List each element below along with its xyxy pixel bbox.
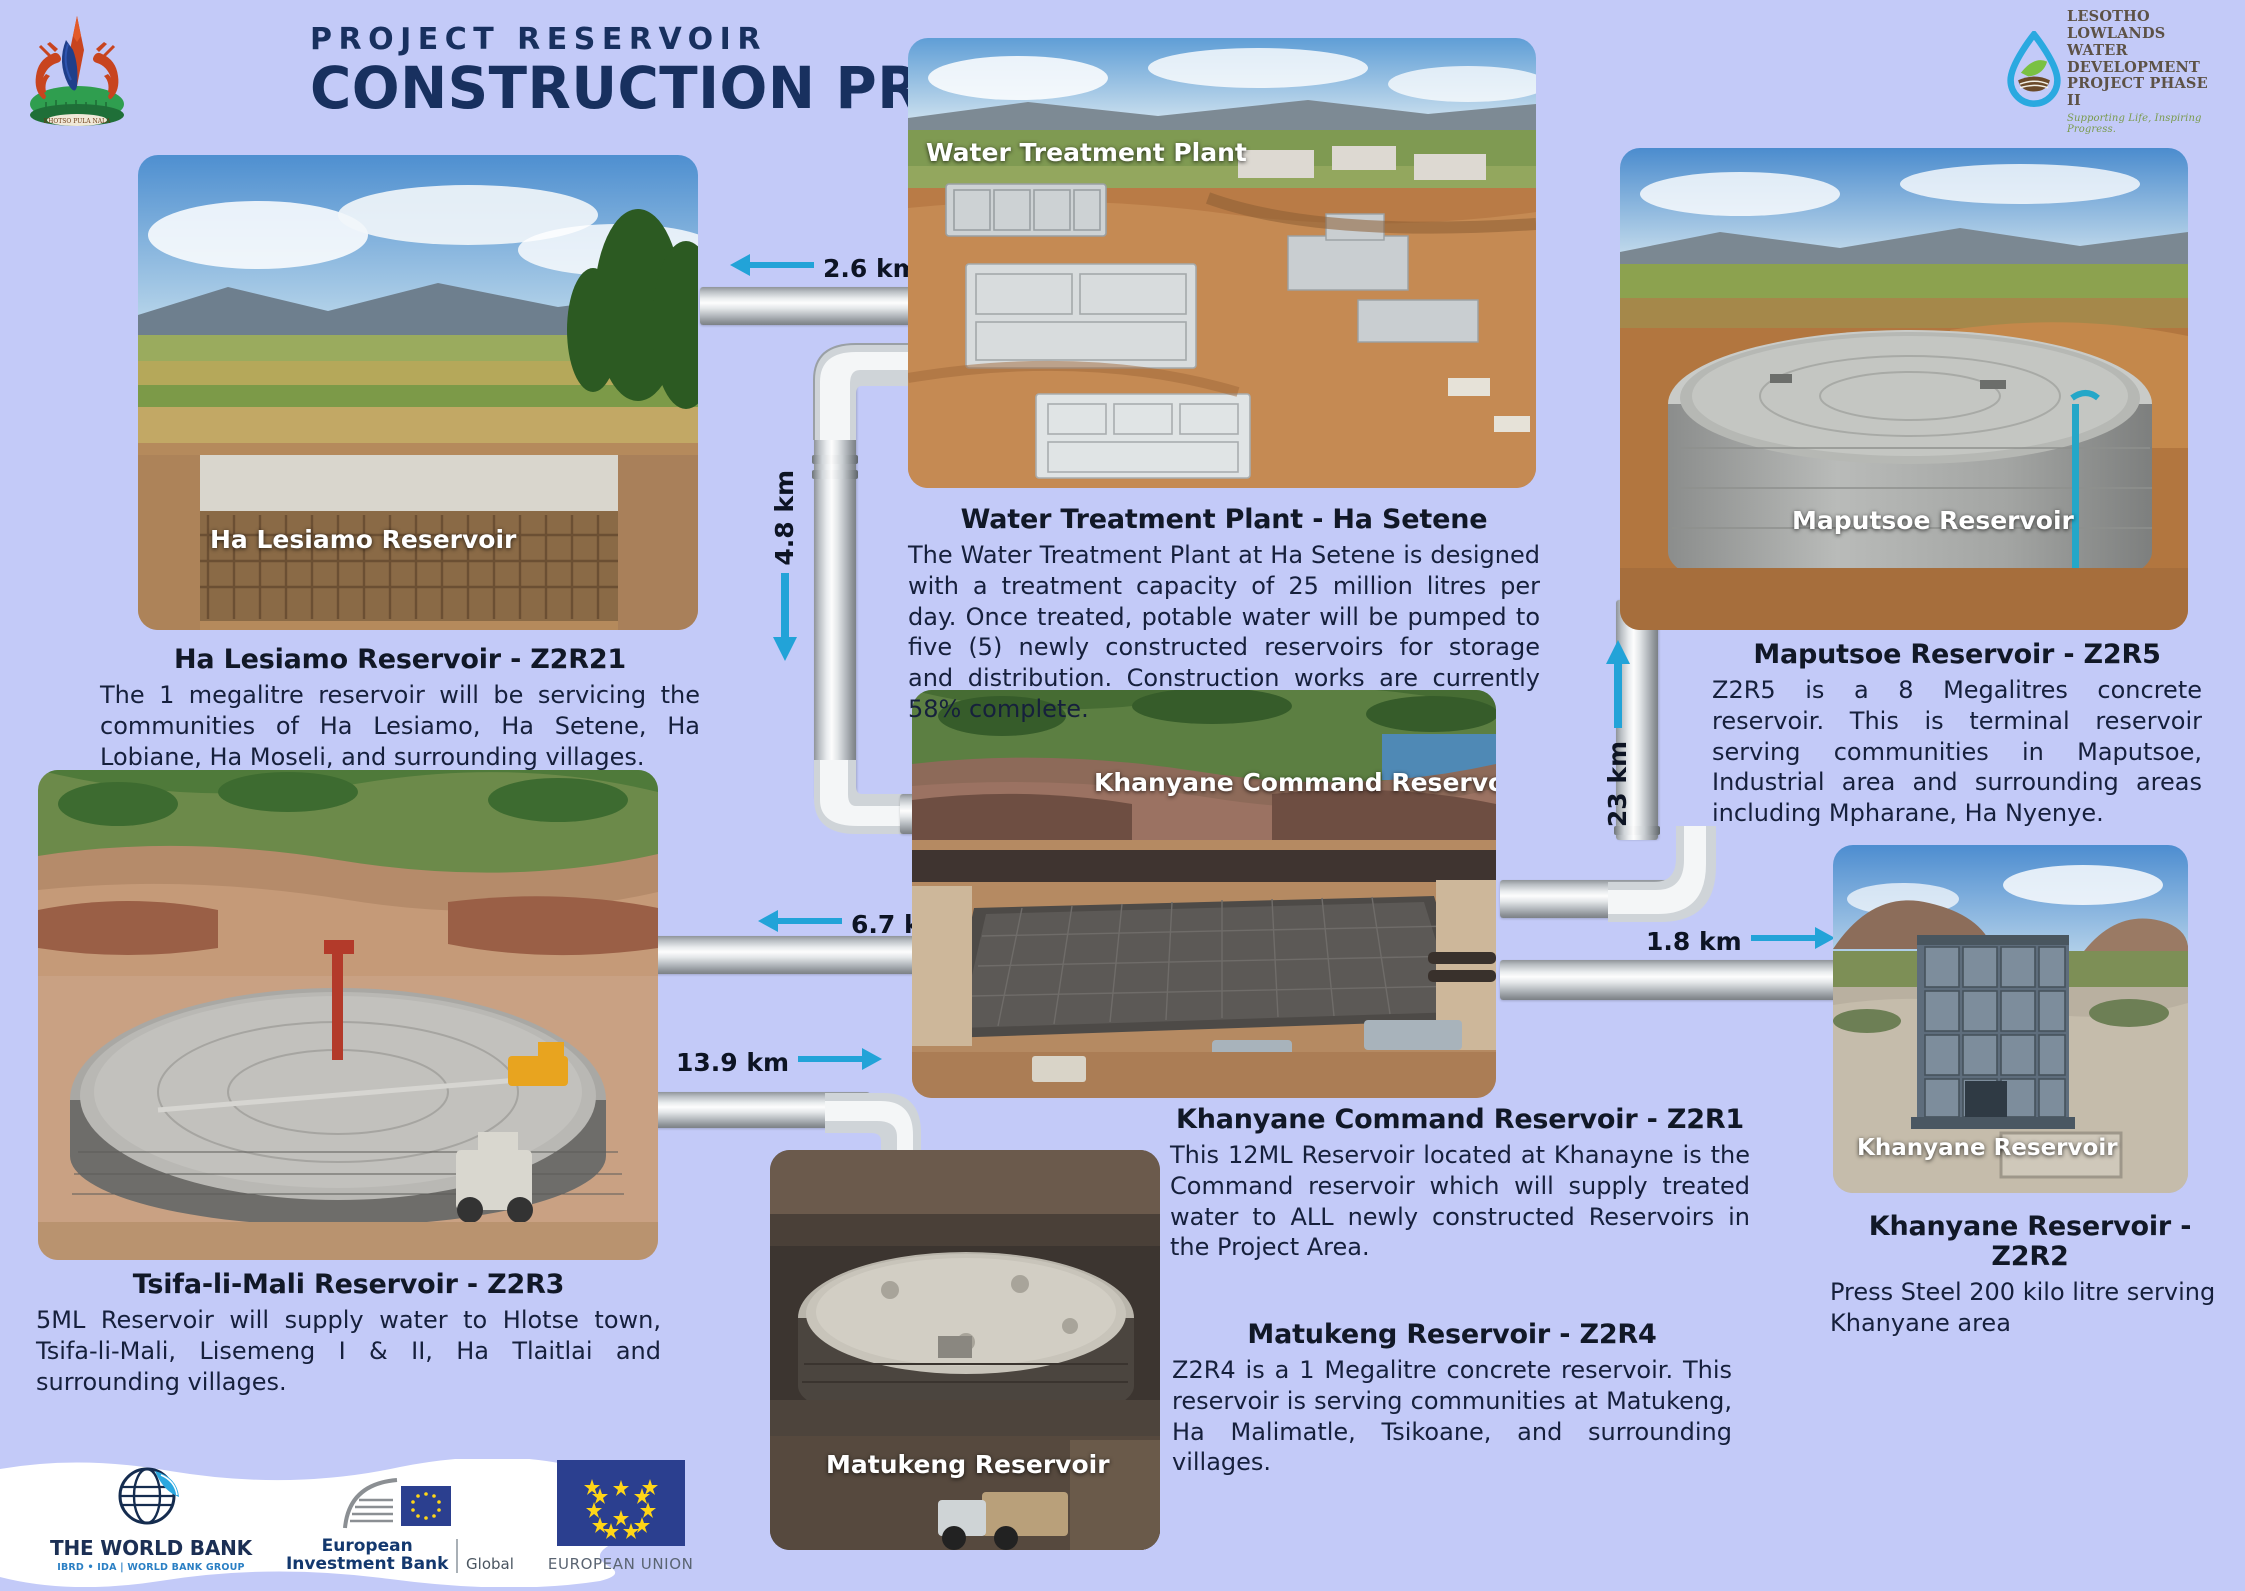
photo-khanyane-command: Khanyane Command Reservoir bbox=[912, 690, 1496, 1098]
eib-logo-icon bbox=[341, 1472, 459, 1538]
distance-command-to-khanyane: 1.8 km bbox=[1646, 925, 1837, 957]
caption-khanyane-command: Khanyane Command Reservoir - Z2R1 This 1… bbox=[1170, 1105, 1750, 1263]
photo-overlay-label: Water Treatment Plant bbox=[926, 138, 1247, 167]
distance-label: 13.9 km bbox=[676, 1048, 789, 1077]
pipe-command-to-khanyane bbox=[1500, 960, 1840, 1000]
caption-title: Matukeng Reservoir - Z2R4 bbox=[1172, 1320, 1732, 1350]
lesotho-coat-of-arms-icon: KHOTSO PULA NALA bbox=[22, 10, 132, 130]
water-drop-leaf-field-icon bbox=[2005, 31, 2063, 113]
caption-title: Ha Lesiamo Reservoir - Z2R21 bbox=[100, 645, 700, 675]
caption-maputsoe: Maputsoe Reservoir - Z2R5 Z2R5 is a 8 Me… bbox=[1712, 640, 2202, 829]
brand-line-4: DEVELOPMENT bbox=[2067, 60, 2227, 77]
infographic-canvas: KHOTSO PULA NALA PROJECT RESERVOIR CONST… bbox=[0, 0, 2245, 1587]
caption-tsifa: Tsifa-li-Mali Reservoir - Z2R3 5ML Reser… bbox=[36, 1270, 661, 1397]
distance-label: 1.8 km bbox=[1646, 927, 1742, 956]
photo-khanyane: Khanyane Reservoir bbox=[1833, 845, 2188, 1193]
eib-logo: European Investment Bank Global bbox=[286, 1472, 514, 1573]
caption-body: The 1 megalitre reservoir will be servic… bbox=[100, 680, 700, 772]
eib-global-label: Global bbox=[466, 1555, 514, 1573]
photo-overlay-label: Khanyane Command Reservoir bbox=[1094, 768, 1496, 797]
pipe-collar-1 bbox=[812, 455, 858, 464]
distance-label: 2.6 km bbox=[823, 254, 919, 283]
world-bank-globe-icon bbox=[115, 1463, 187, 1533]
photo-matukeng: Matukeng Reservoir bbox=[770, 1150, 1160, 1550]
photo-tsifa-li-mali: Tsifa-li-Mali Reservoir bbox=[38, 770, 658, 1260]
caption-body: The Water Treatment Plant at Ha Setene i… bbox=[908, 540, 1540, 724]
pipe-collar-2 bbox=[812, 470, 858, 479]
pipe-wtp-vertical bbox=[814, 380, 856, 800]
photo-overlay-label: Ha Lesiamo Reservoir bbox=[210, 525, 516, 554]
caption-title: Water Treatment Plant - Ha Setene bbox=[908, 505, 1540, 535]
project-brand-logo: LESOTHO LOWLANDS WATER DEVELOPMENT PROJE… bbox=[2005, 8, 2227, 136]
brand-line-5: PROJECT PHASE II bbox=[2067, 76, 2227, 110]
pipe-elbow-maputsoe bbox=[1608, 826, 1728, 936]
arrow-right-icon bbox=[798, 1046, 884, 1078]
world-bank-name: THE WORLD BANK bbox=[50, 1536, 252, 1560]
distance-wtp-down: 4.8 km bbox=[770, 470, 799, 669]
distance-tsifa-to-matukeng: 13.9 km bbox=[676, 1046, 884, 1078]
arrow-up-icon bbox=[1605, 640, 1631, 734]
pipe-command-to-tsifa bbox=[640, 936, 940, 974]
world-bank-subtitle: IBRD • IDA | WORLD BANK GROUP bbox=[57, 1562, 245, 1573]
photo-ha-lesiamo: Ha Lesiamo Reservoir bbox=[138, 155, 698, 630]
arrow-left-icon bbox=[756, 908, 842, 940]
photo-overlay-label: Khanyane Reservoir bbox=[1857, 1135, 2118, 1161]
arrow-right-icon bbox=[1751, 925, 1837, 957]
caption-title: Khanyane Reservoir - Z2R2 bbox=[1830, 1212, 2230, 1272]
brand-line-3: WATER bbox=[2067, 43, 2227, 60]
caption-ha-lesiamo: Ha Lesiamo Reservoir - Z2R21 The 1 megal… bbox=[100, 645, 700, 772]
caption-body: Z2R5 is a 8 Megalitres concrete reservoi… bbox=[1712, 675, 2202, 829]
caption-title: Maputsoe Reservoir - Z2R5 bbox=[1712, 640, 2202, 670]
caption-body: Press Steel 200 kilo litre serving Khany… bbox=[1830, 1277, 2230, 1338]
eu-flag-icon bbox=[557, 1460, 685, 1550]
svg-text:KHOTSO PULA NALA: KHOTSO PULA NALA bbox=[44, 118, 111, 125]
distance-label: 23 km bbox=[1603, 741, 1632, 827]
footer-partner-logos: THE WORLD BANK IBRD • IDA | WORLD BANK G… bbox=[50, 1460, 693, 1573]
pipe-collar-3 bbox=[1614, 826, 1660, 835]
eu-name: EUROPEAN UNION bbox=[548, 1555, 694, 1573]
photo-overlay-label: Maputsoe Reservoir bbox=[1792, 506, 2074, 535]
photo-maputsoe: Maputsoe Reservoir bbox=[1620, 148, 2188, 630]
caption-khanyane: Khanyane Reservoir - Z2R2 Press Steel 20… bbox=[1830, 1212, 2230, 1339]
photo-water-treatment-plant: Water Treatment Plant bbox=[908, 38, 1536, 488]
arrow-down-icon bbox=[772, 573, 798, 669]
distance-wtp-to-lesiamo: 2.6 km bbox=[728, 252, 919, 284]
pipe-wtp-to-lesiamo bbox=[700, 287, 940, 325]
caption-title: Khanyane Command Reservoir - Z2R1 bbox=[1170, 1105, 1750, 1135]
photo-overlay-label: Matukeng Reservoir bbox=[826, 1450, 1110, 1479]
caption-matukeng: Matukeng Reservoir - Z2R4 Z2R4 is a 1 Me… bbox=[1172, 1320, 1732, 1478]
caption-body: This 12ML Reservoir located at Khanayne … bbox=[1170, 1140, 1750, 1263]
caption-wtp: Water Treatment Plant - Ha Setene The Wa… bbox=[908, 505, 1540, 725]
arrow-left-icon bbox=[728, 252, 814, 284]
caption-body: 5ML Reservoir will supply water to Hlots… bbox=[36, 1305, 661, 1397]
distance-command-to-maputsoe: 23 km bbox=[1603, 640, 1632, 827]
eib-line-2: Investment Bank bbox=[286, 1556, 449, 1573]
brand-tagline: Supporting Life, Inspiring Progress. bbox=[2067, 113, 2227, 135]
brand-line-1: LESOTHO bbox=[2067, 9, 2227, 26]
world-bank-logo: THE WORLD BANK IBRD • IDA | WORLD BANK G… bbox=[50, 1463, 252, 1573]
distance-label: 4.8 km bbox=[770, 470, 799, 566]
european-union-logo: EUROPEAN UNION bbox=[548, 1460, 694, 1573]
caption-title: Tsifa-li-Mali Reservoir - Z2R3 bbox=[36, 1270, 661, 1300]
brand-line-2: LOWLANDS bbox=[2067, 26, 2227, 43]
eib-divider bbox=[456, 1539, 458, 1573]
caption-body: Z2R4 is a 1 Megalitre concrete reservoir… bbox=[1172, 1355, 1732, 1478]
